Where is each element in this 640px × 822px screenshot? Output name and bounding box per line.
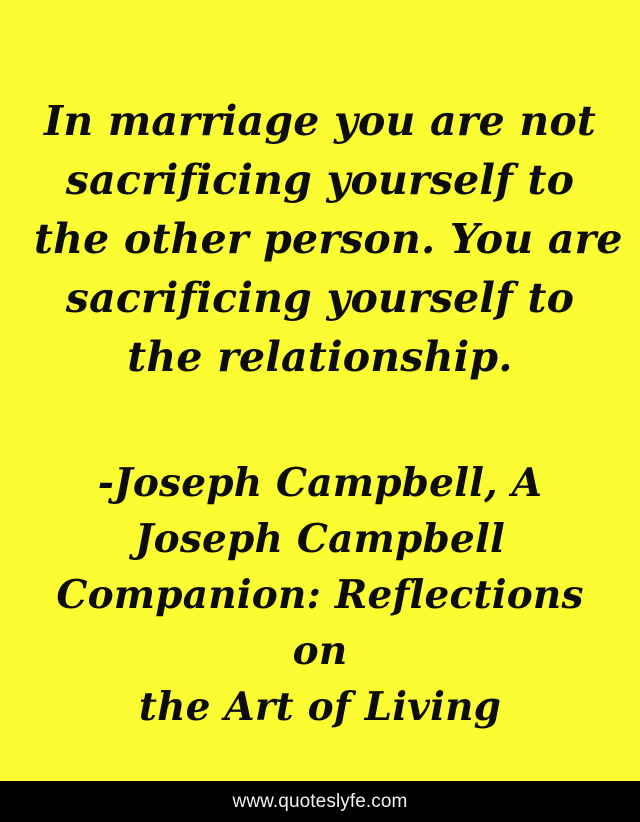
- quote-line: the relationship.: [34, 328, 606, 387]
- quote-line: sacrificing yourself to: [34, 151, 606, 210]
- attribution-line: -Joseph Campbell, A: [26, 455, 614, 511]
- quote-card: In marriage you are not sacrificing your…: [0, 0, 640, 822]
- footer-website-url[interactable]: www.quoteslyfe.com: [233, 792, 408, 811]
- attribution-line: Joseph Campbell: [26, 511, 614, 567]
- quote-content-area: In marriage you are not sacrificing your…: [0, 0, 640, 822]
- attribution-line: the Art of Living: [26, 679, 614, 735]
- quote-attribution: -Joseph Campbell, A Joseph Campbell Comp…: [0, 455, 640, 735]
- quote-line: sacrificing yourself to: [34, 269, 606, 328]
- quote-line: the other person. You are: [34, 210, 606, 269]
- footer-bar: www.quoteslyfe.com: [0, 781, 640, 822]
- quote-text: In marriage you are not sacrificing your…: [0, 92, 640, 387]
- quote-line: In marriage you are not: [34, 92, 606, 151]
- attribution-line: Companion: Reflections on: [26, 567, 614, 679]
